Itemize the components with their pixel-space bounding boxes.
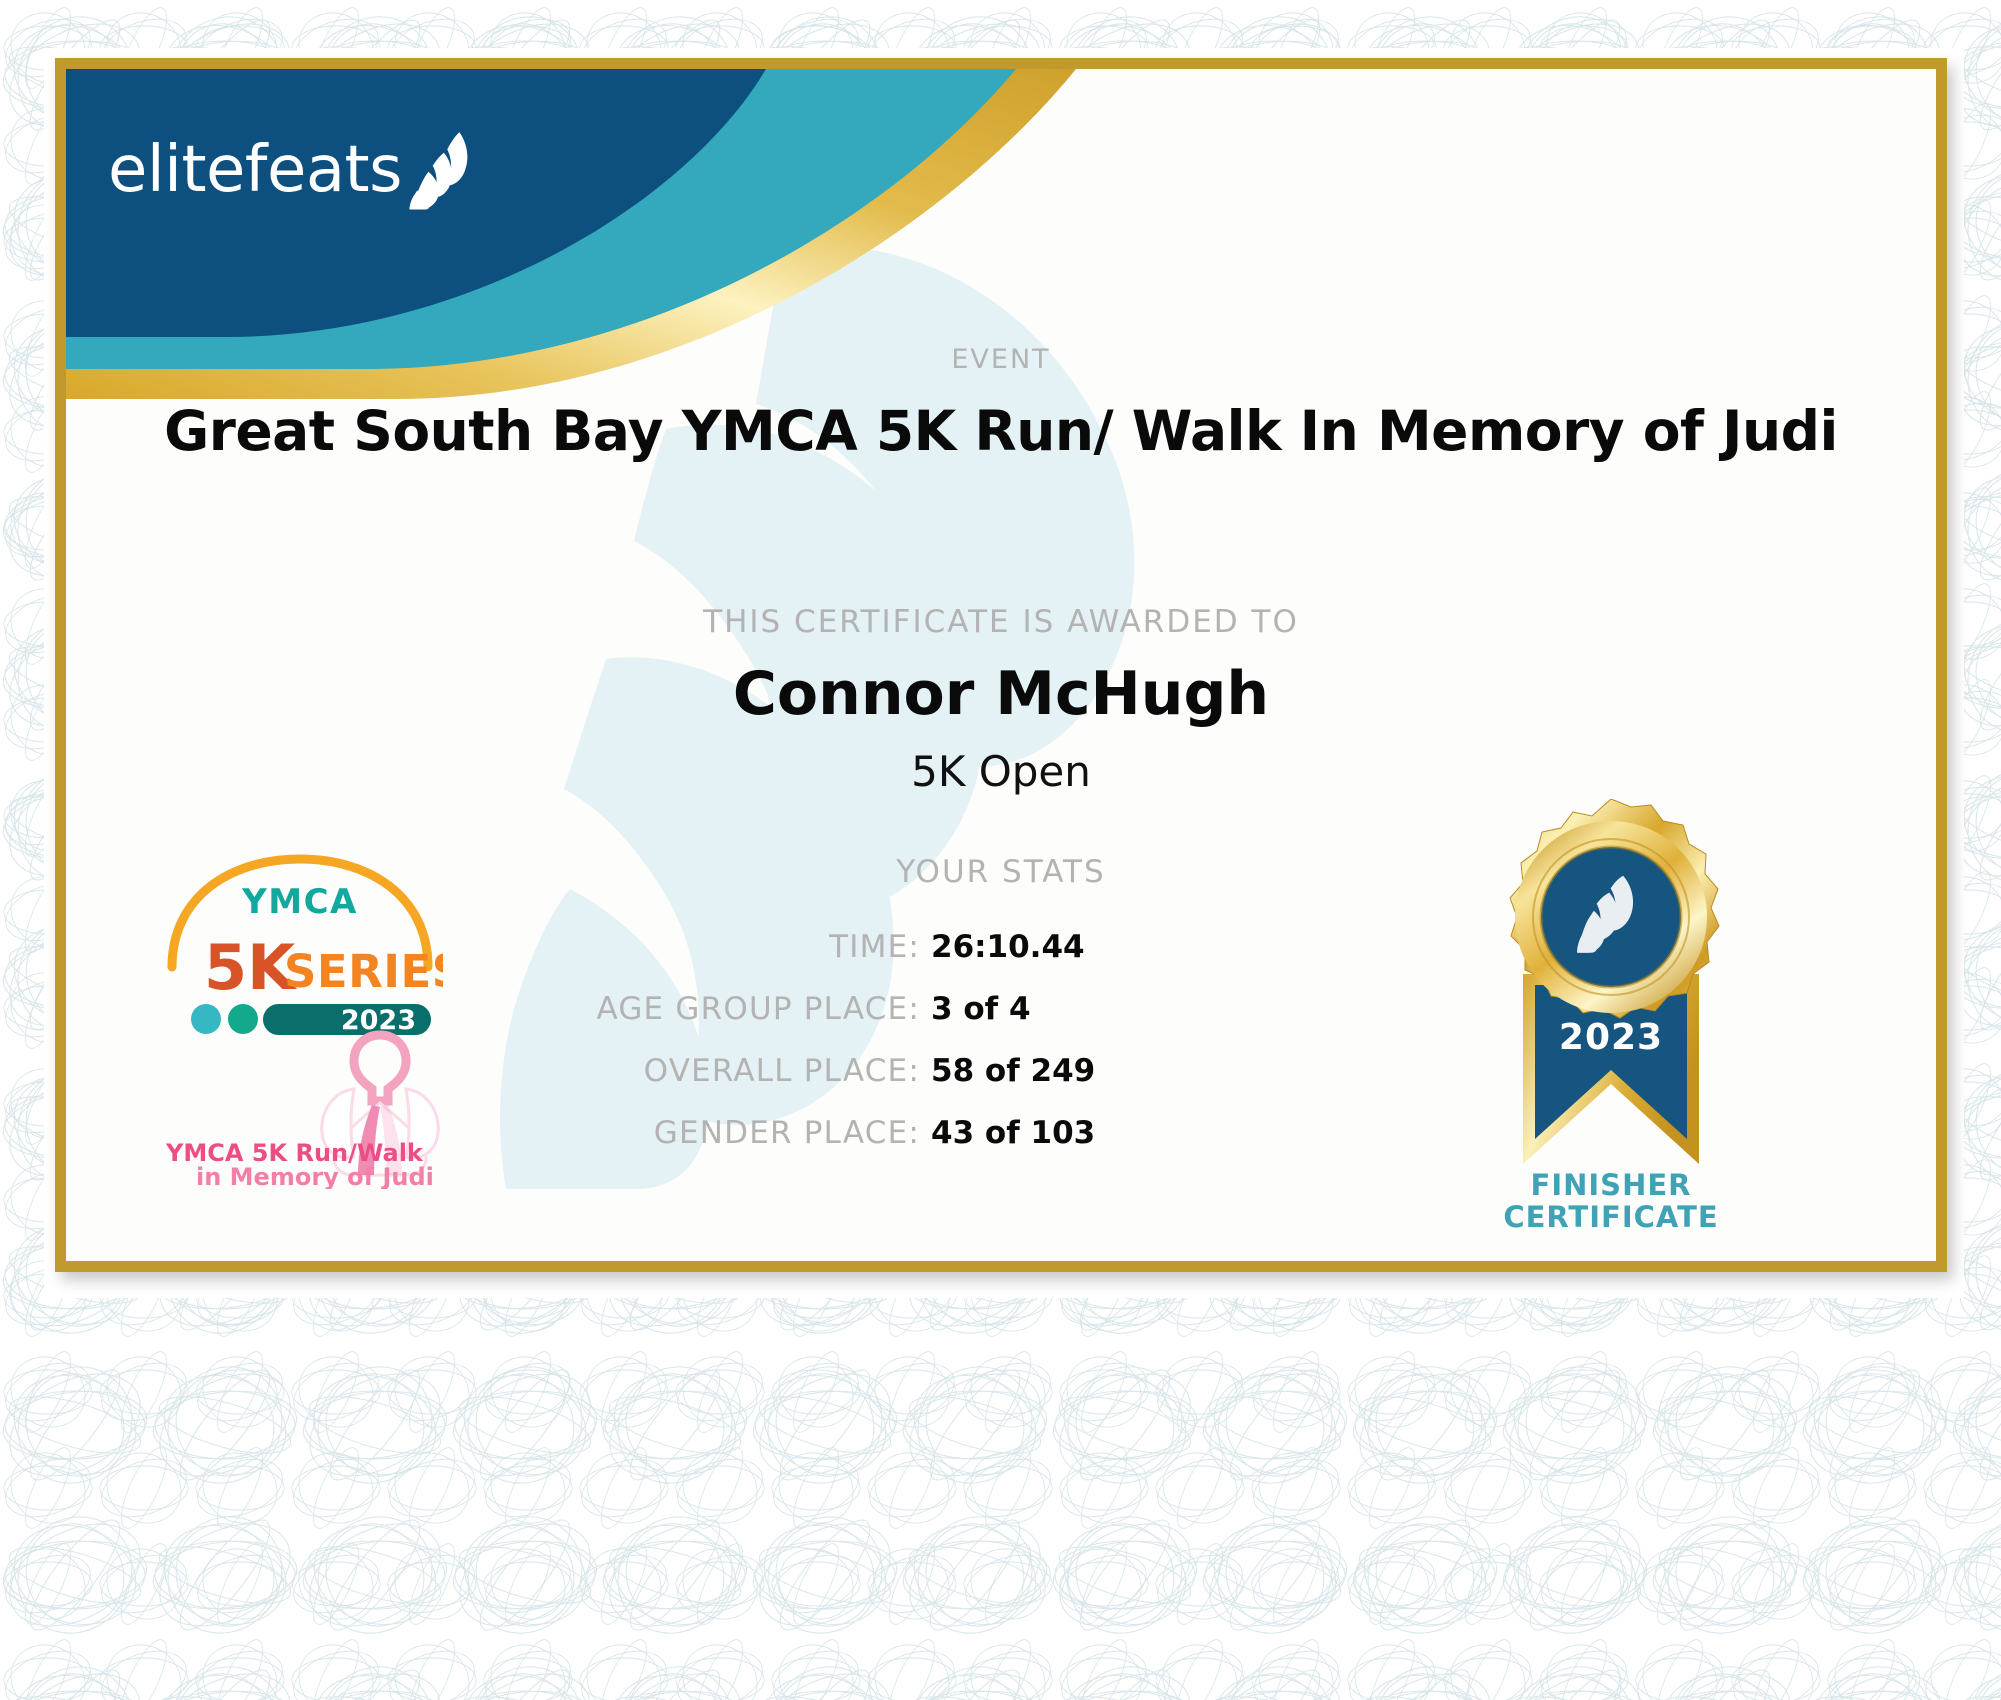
medal-year-text: 2023 — [1559, 1017, 1663, 1058]
recipient-name: Connor McHugh — [66, 659, 1936, 729]
ymca-logo-ymca-text: YMCA — [241, 882, 358, 922]
event-title: Great South Bay YMCA 5K Run/ Walk In Mem… — [66, 399, 1936, 463]
stat-row-time: TIME: 26:10.44 — [446, 929, 1166, 991]
stat-label-time: TIME: — [829, 929, 920, 965]
stat-label-overall-place: OVERALL PLACE: — [644, 1053, 920, 1089]
ymca-logo-tagline-line2: in Memory of Judi — [196, 1163, 434, 1189]
stats-list: TIME: 26:10.44 AGE GROUP PLACE: 3 of 4 O… — [446, 929, 1166, 1177]
medal-caption-line2: CERTIFICATE — [1446, 1201, 1776, 1233]
stat-row-age-group-place: AGE GROUP PLACE: 3 of 4 — [446, 991, 1166, 1053]
stat-label-gender-place: GENDER PLACE: — [654, 1115, 920, 1151]
stat-value-gender-place: 43 of 103 — [931, 1115, 1166, 1151]
event-label: EVENT — [66, 344, 1936, 375]
stat-row-overall-place: OVERALL PLACE: 58 of 249 — [446, 1053, 1166, 1115]
stat-value-overall-place: 58 of 249 — [931, 1053, 1166, 1089]
certificate-page: elitefeats EVENT Great South Bay YMCA 5K… — [0, 0, 2001, 1700]
stat-value-age-group-place: 3 of 4 — [931, 991, 1166, 1027]
certificate-frame: elitefeats EVENT Great South Bay YMCA 5K… — [55, 58, 1947, 1272]
certificate-inner: elitefeats EVENT Great South Bay YMCA 5K… — [66, 69, 1936, 1261]
stat-value-time: 26:10.44 — [931, 929, 1166, 965]
medal-caption: FINISHER CERTIFICATE — [1446, 1169, 1776, 1234]
division-name: 5K Open — [66, 747, 1936, 796]
awarded-to-label: THIS CERTIFICATE IS AWARDED TO — [66, 604, 1936, 640]
ymca-logo-series-text: SERIES — [284, 945, 443, 998]
medal-caption-line1: FINISHER — [1446, 1169, 1776, 1201]
stat-row-gender-place: GENDER PLACE: 43 of 103 — [446, 1115, 1166, 1177]
ymca-5k-series-logo: YMCA 5K SERIES 2023 — [158, 849, 443, 1189]
stat-label-age-group-place: AGE GROUP PLACE: — [596, 991, 920, 1027]
